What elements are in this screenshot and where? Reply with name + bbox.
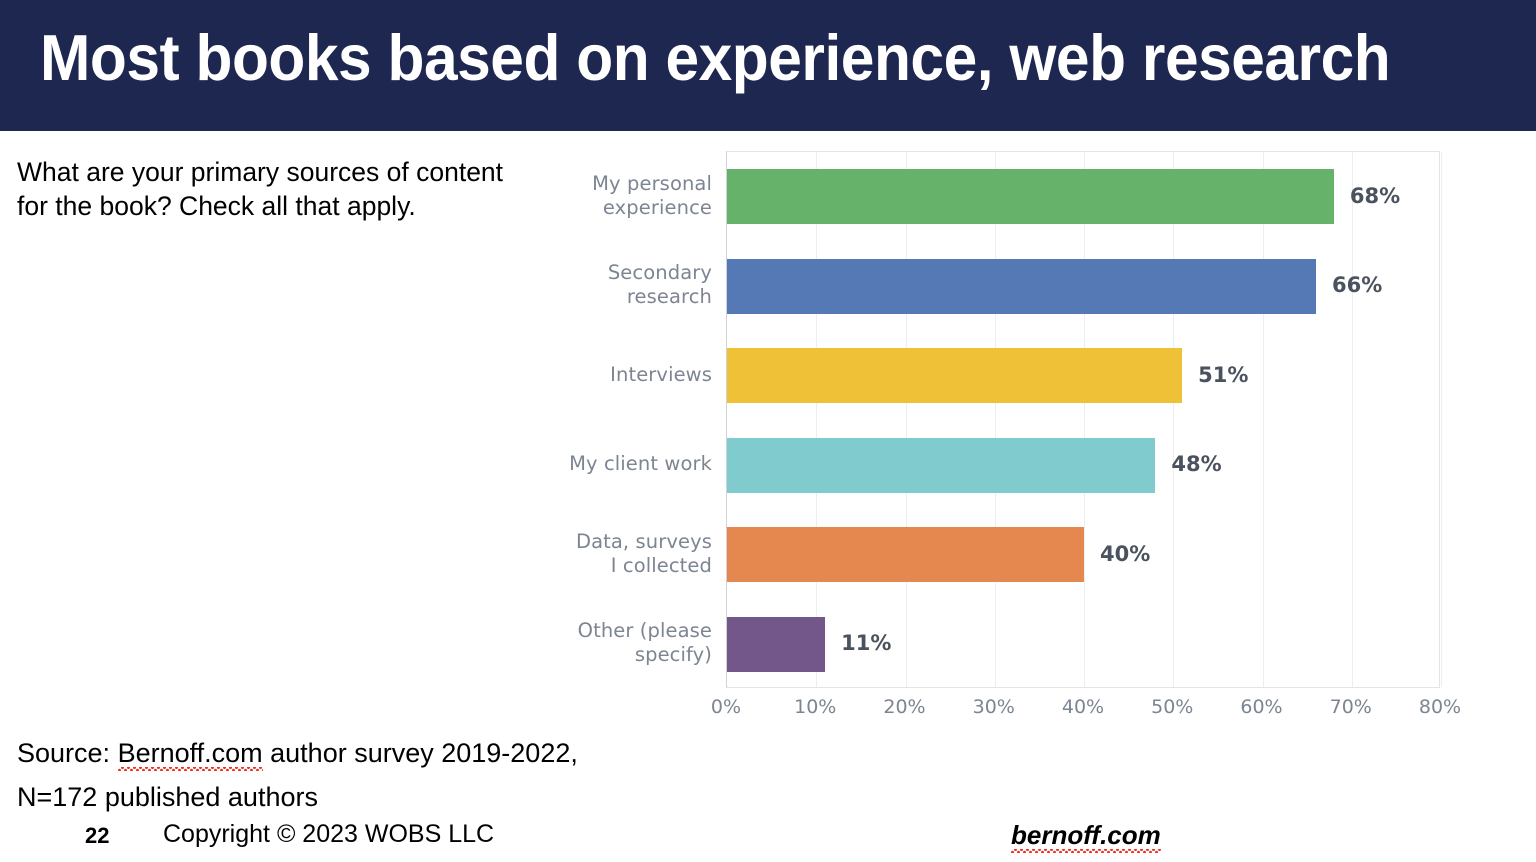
source-line-2: N=172 published authors bbox=[17, 782, 318, 813]
chart-gridline bbox=[1352, 152, 1353, 687]
chart-category-label: Data, surveysI collected bbox=[560, 530, 712, 578]
chart-xtick-label: 20% bbox=[883, 696, 925, 718]
chart-bar bbox=[727, 438, 1155, 493]
chart-bar bbox=[727, 169, 1334, 224]
brand-logo: bernoff.com bbox=[1011, 820, 1161, 851]
copyright-notice: Copyright © 2023 WOBS LLC bbox=[163, 820, 494, 849]
source-prefix: Source: bbox=[17, 738, 118, 768]
title-banner: Most books based on experience, web rese… bbox=[0, 0, 1536, 131]
chart-category-label: Other (pleasespecify) bbox=[560, 619, 712, 667]
chart-bar-value-label: 51% bbox=[1198, 363, 1248, 387]
chart-category-label-line: Secondary bbox=[560, 261, 712, 285]
chart-gridline bbox=[1173, 152, 1174, 687]
chart-plot-area: 68%66%51%48%40%11% bbox=[726, 151, 1440, 688]
chart-category-axis: My personalexperienceSecondaryresearchIn… bbox=[560, 151, 712, 688]
chart-gridline bbox=[816, 152, 817, 687]
brand-logo-text: bernoff.com bbox=[1011, 820, 1161, 851]
source-line-1: Source: Bernoff.com author survey 2019-2… bbox=[17, 738, 578, 769]
chart-category-label-line: Interviews bbox=[560, 363, 712, 387]
chart-category-label-line: I collected bbox=[560, 554, 712, 578]
chart-gridline bbox=[1084, 152, 1085, 687]
chart-category-label: Interviews bbox=[560, 363, 712, 387]
chart-gridline bbox=[906, 152, 907, 687]
chart-bar-value-label: 66% bbox=[1332, 273, 1382, 297]
chart-xtick-label: 30% bbox=[973, 696, 1015, 718]
chart-gridline bbox=[1263, 152, 1264, 687]
chart-category-label: Secondaryresearch bbox=[560, 261, 712, 309]
chart-category-label: My client work bbox=[560, 452, 712, 476]
chart-bar-value-label: 40% bbox=[1100, 542, 1150, 566]
chart-category-label-line: specify) bbox=[560, 643, 712, 667]
chart-category-label-line: Other (please bbox=[560, 619, 712, 643]
chart-category-label-line: My client work bbox=[560, 452, 712, 476]
chart-gridline bbox=[995, 152, 996, 687]
chart-bar-value-label: 11% bbox=[841, 631, 891, 655]
page-title: Most books based on experience, web rese… bbox=[40, 17, 1407, 99]
chart-category-label-line: My personal bbox=[560, 172, 712, 196]
survey-question-text: What are your primary sources of content… bbox=[17, 155, 537, 223]
chart-xtick-label: 80% bbox=[1419, 696, 1461, 718]
slide-page-number: 22 bbox=[85, 823, 109, 849]
chart-bar-value-label: 48% bbox=[1171, 452, 1221, 476]
chart-bar bbox=[727, 259, 1316, 314]
chart-bar bbox=[727, 348, 1182, 403]
chart-bar bbox=[727, 617, 825, 672]
chart-category-label-line: research bbox=[560, 285, 712, 309]
chart-xtick-label: 0% bbox=[711, 696, 741, 718]
chart-gridline bbox=[1441, 152, 1442, 687]
chart-xtick-label: 50% bbox=[1151, 696, 1193, 718]
chart-bar-value-label: 68% bbox=[1350, 184, 1400, 208]
source-domain: Bernoff.com bbox=[118, 738, 263, 769]
chart-xtick-label: 10% bbox=[794, 696, 836, 718]
source-suffix: author survey 2019-2022, bbox=[263, 738, 578, 768]
chart-xtick-label: 40% bbox=[1062, 696, 1104, 718]
chart-category-label: My personalexperience bbox=[560, 172, 712, 220]
chart-category-label-line: Data, surveys bbox=[560, 530, 712, 554]
chart-category-label-line: experience bbox=[560, 196, 712, 220]
bar-chart: My personalexperienceSecondaryresearchIn… bbox=[560, 148, 1490, 728]
chart-xtick-label: 70% bbox=[1330, 696, 1372, 718]
chart-bar bbox=[727, 527, 1084, 582]
chart-xtick-label: 60% bbox=[1240, 696, 1282, 718]
